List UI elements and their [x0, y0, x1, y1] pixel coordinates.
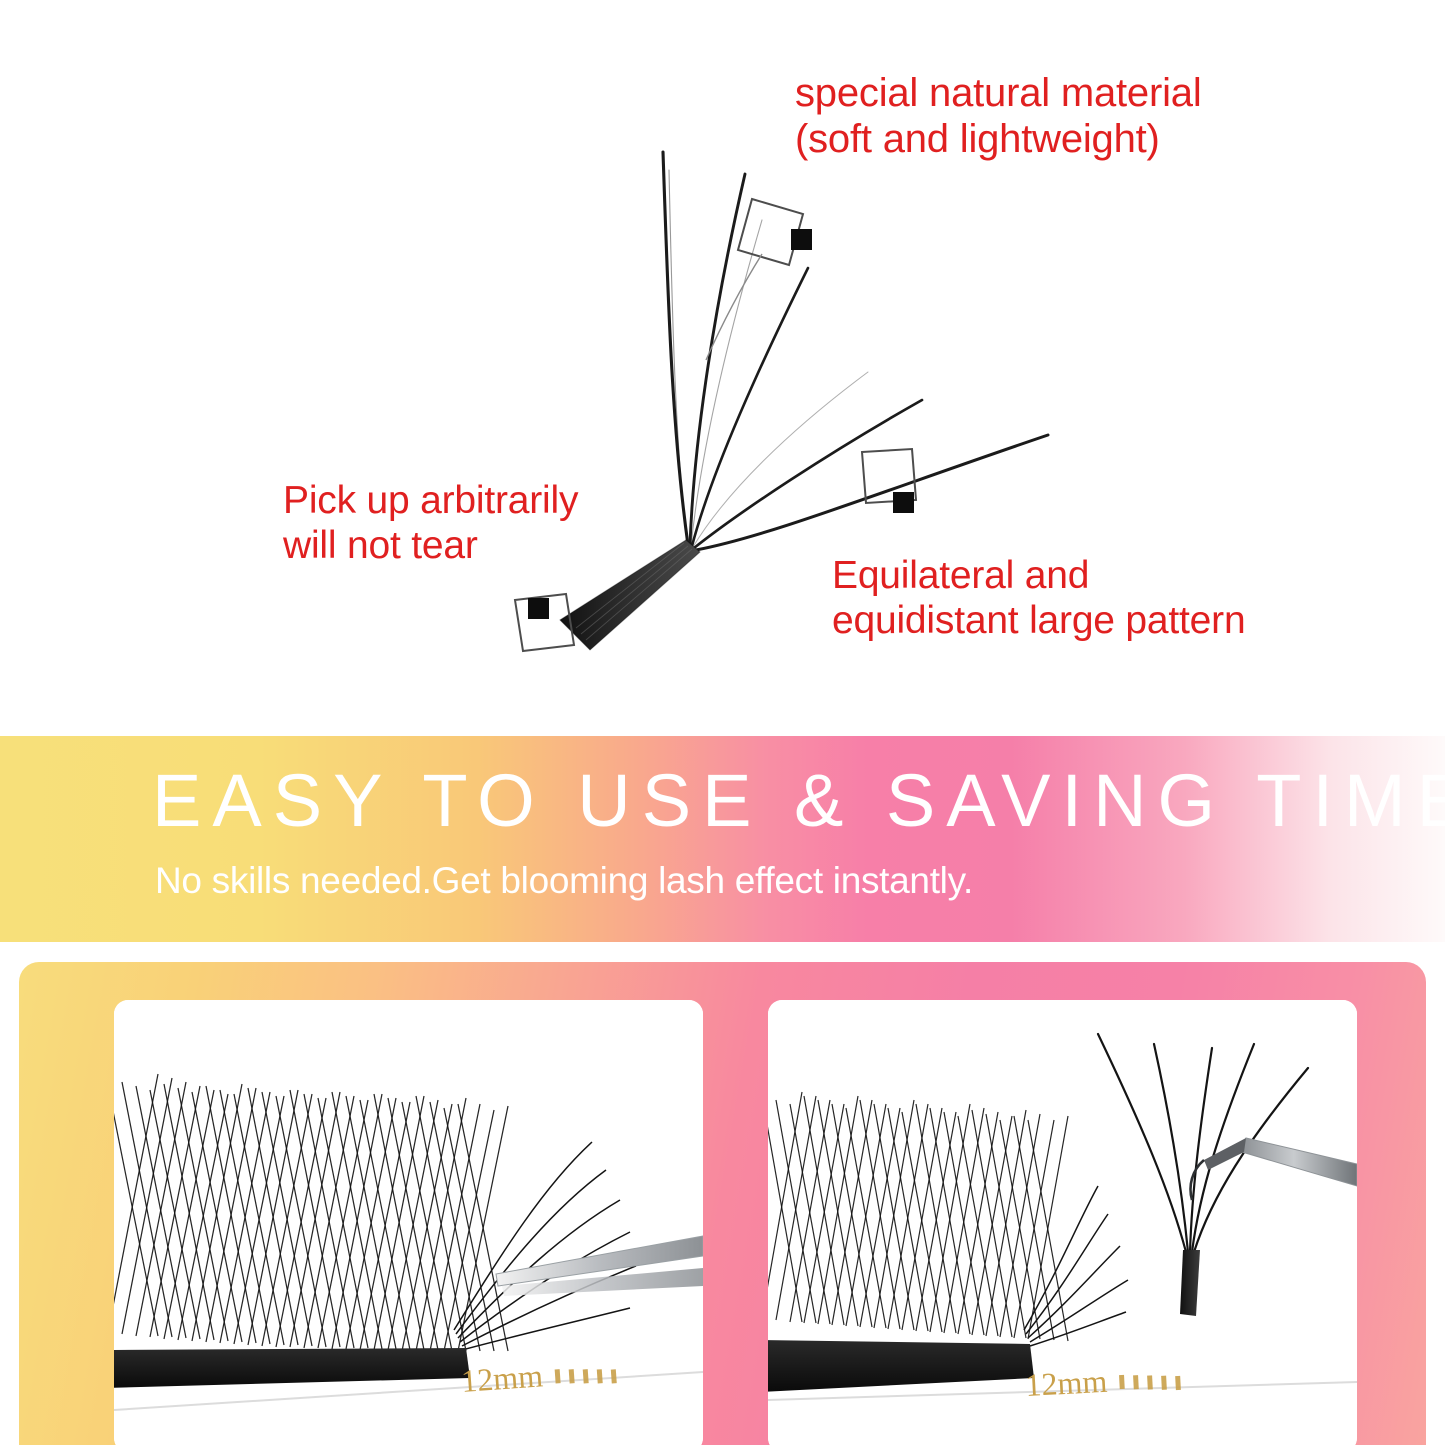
- callout-equilateral-line1: Equilateral and: [832, 554, 1089, 597]
- tray-size-label: 12mm: [460, 1357, 544, 1399]
- callout-label-material: special natural material(soft and lightw…: [795, 70, 1202, 163]
- photo-gallery-panel: 12mm: [19, 962, 1426, 1445]
- callout-material-line1: special natural material: [795, 71, 1202, 115]
- callout-marker-equilateral: [862, 449, 916, 513]
- callout-pickup-line1: Pick up arbitrarily: [283, 479, 578, 522]
- headline-banner: EASY TO USE & SAVING TIME No skills need…: [0, 736, 1445, 942]
- callout-equilateral-line2: equidistant large pattern: [832, 599, 1245, 642]
- lash-fan-base: [560, 540, 700, 650]
- banner-title: EASY TO USE & SAVING TIME: [152, 758, 1445, 843]
- callout-label-pickup: Pick up arbitrarilywill not tear: [283, 478, 578, 568]
- callout-pickup-line2: will not tear: [283, 524, 478, 567]
- tray-size-label: 12mm: [1024, 1363, 1108, 1403]
- callout-material-line2: (soft and lightweight): [795, 117, 1160, 161]
- photo-fan-lifted-by-tweezers: 12mm: [768, 1000, 1357, 1445]
- photo-card-right: 12mm: [768, 1000, 1357, 1445]
- photo-lash-tray-with-tweezers: 12mm: [114, 1000, 703, 1445]
- photo-card-left: 12mm: [114, 1000, 703, 1445]
- banner-subtitle: No skills needed.Get blooming lash effec…: [155, 860, 973, 902]
- lash-diagram-section: special natural material(soft and lightw…: [0, 0, 1445, 735]
- lash-fibers: [663, 152, 1048, 550]
- callout-label-equilateral: Equilateral andequidistant large pattern: [832, 553, 1245, 643]
